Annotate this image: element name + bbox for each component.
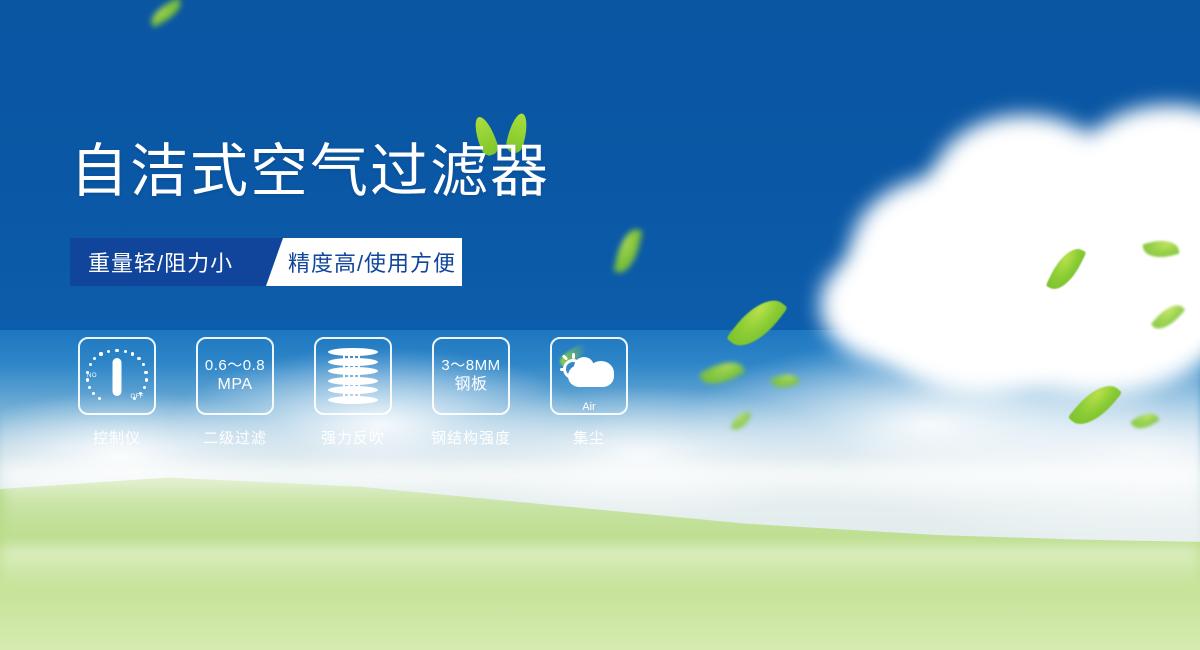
pressure-range-text: 0.6～0.8 <box>205 357 265 375</box>
dial-off-label: OFF <box>131 394 145 400</box>
feature-label: 集尘 <box>573 427 605 448</box>
dial-on-label: NO <box>87 373 97 379</box>
feature-item-secondary-filtration[interactable]: 0.6～0.8 MPA 二级过滤 <box>196 337 274 448</box>
feature-icon-box: Air <box>550 337 628 415</box>
banner-title: 自洁式空气过滤器 <box>70 143 550 201</box>
feature-item-strong-backblow[interactable]: 强力反吹 <box>314 337 392 448</box>
dial-pointer <box>113 358 122 396</box>
feature-label: 钢结构强度 <box>431 427 511 448</box>
subtitle-left-panel: 重量轻/阻力小 <box>70 238 266 286</box>
feature-icon-box: NO OFF <box>78 337 156 415</box>
feature-item-steel-structure-strength[interactable]: 3～8MM 钢板 钢结构强度 <box>432 337 510 448</box>
air-text: Air <box>560 401 618 413</box>
filter-coil-icon <box>328 348 378 404</box>
feature-item-control-instrument[interactable]: NO OFF 控制仪 <box>78 337 156 448</box>
feature-icon-box: 0.6～0.8 MPA <box>196 337 274 415</box>
grass-light-band <box>0 546 1200 592</box>
subtitle-bar: 重量轻/阻力小 精度高/使用方便 <box>70 238 462 286</box>
steel-thickness-text: 3～8MM <box>441 357 500 375</box>
feature-icon-box <box>314 337 392 415</box>
feature-icon-box: 3～8MM 钢板 <box>432 337 510 415</box>
feature-item-dust-collection[interactable]: Air 集尘 <box>550 337 628 448</box>
feature-label: 控制仪 <box>93 427 141 448</box>
product-banner: 自洁式空气过滤器 重量轻/阻力小 精度高/使用方便 <box>0 0 1200 650</box>
steel-plate-text: 钢板 <box>454 375 487 394</box>
horizon-haze <box>0 464 1200 554</box>
control-dial-icon: NO OFF <box>86 345 148 407</box>
feature-label: 二级过滤 <box>203 427 267 448</box>
air-cloud-icon: Air <box>560 353 618 399</box>
pressure-unit-text: MPA <box>218 375 253 394</box>
feature-list: NO OFF 控制仪 0.6～0.8 MPA 二级过滤 <box>78 337 628 448</box>
subtitle-right-panel: 精度高/使用方便 <box>266 238 462 286</box>
feature-label: 强力反吹 <box>321 427 385 448</box>
